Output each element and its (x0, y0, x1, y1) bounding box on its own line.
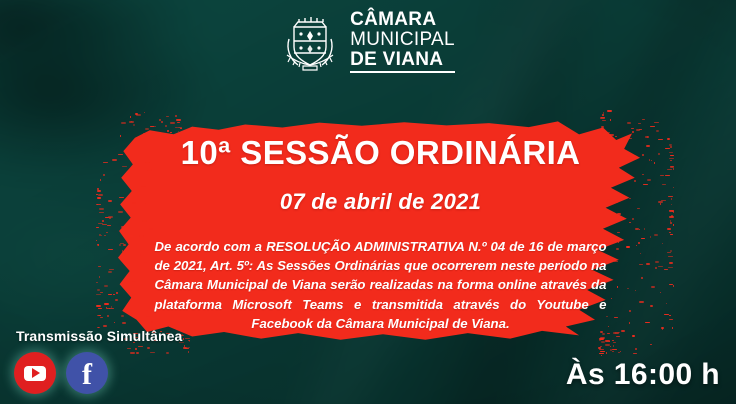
brand-logo: CÂMARA MUNICIPAL DE VIANA (0, 10, 736, 73)
event-poster: CÂMARA MUNICIPAL DE VIANA 10ª SESSÃO ORD… (0, 0, 736, 404)
simulcast-label: Transmissão Simultânea (16, 328, 182, 344)
brand-wordmark: CÂMARA MUNICIPAL DE VIANA (350, 10, 455, 73)
brand-line-municipal: MUNICIPAL (350, 30, 455, 49)
session-description: De acordo com a RESOLUÇÃO ADMINISTRATIVA… (155, 237, 607, 334)
brand-line-camara: CÂMARA (350, 10, 455, 29)
facebook-icon: f (82, 360, 92, 390)
simulcast-block: Transmissão Simultânea f (14, 328, 182, 394)
event-time: Às 16:00 h (566, 358, 720, 392)
facebook-link[interactable]: f (66, 352, 108, 394)
coat-of-arms-crest-icon (281, 11, 339, 73)
session-date: 07 de abril de 2021 (128, 189, 633, 215)
brand-line-de-viana: DE VIANA (350, 50, 455, 73)
social-links: f (14, 352, 182, 394)
banner-content: 10ª SESSÃO ORDINÁRIA 07 de abril de 2021… (128, 128, 633, 334)
session-title: 10ª SESSÃO ORDINÁRIA (128, 136, 633, 171)
youtube-icon (24, 366, 46, 381)
youtube-link[interactable] (14, 352, 56, 394)
